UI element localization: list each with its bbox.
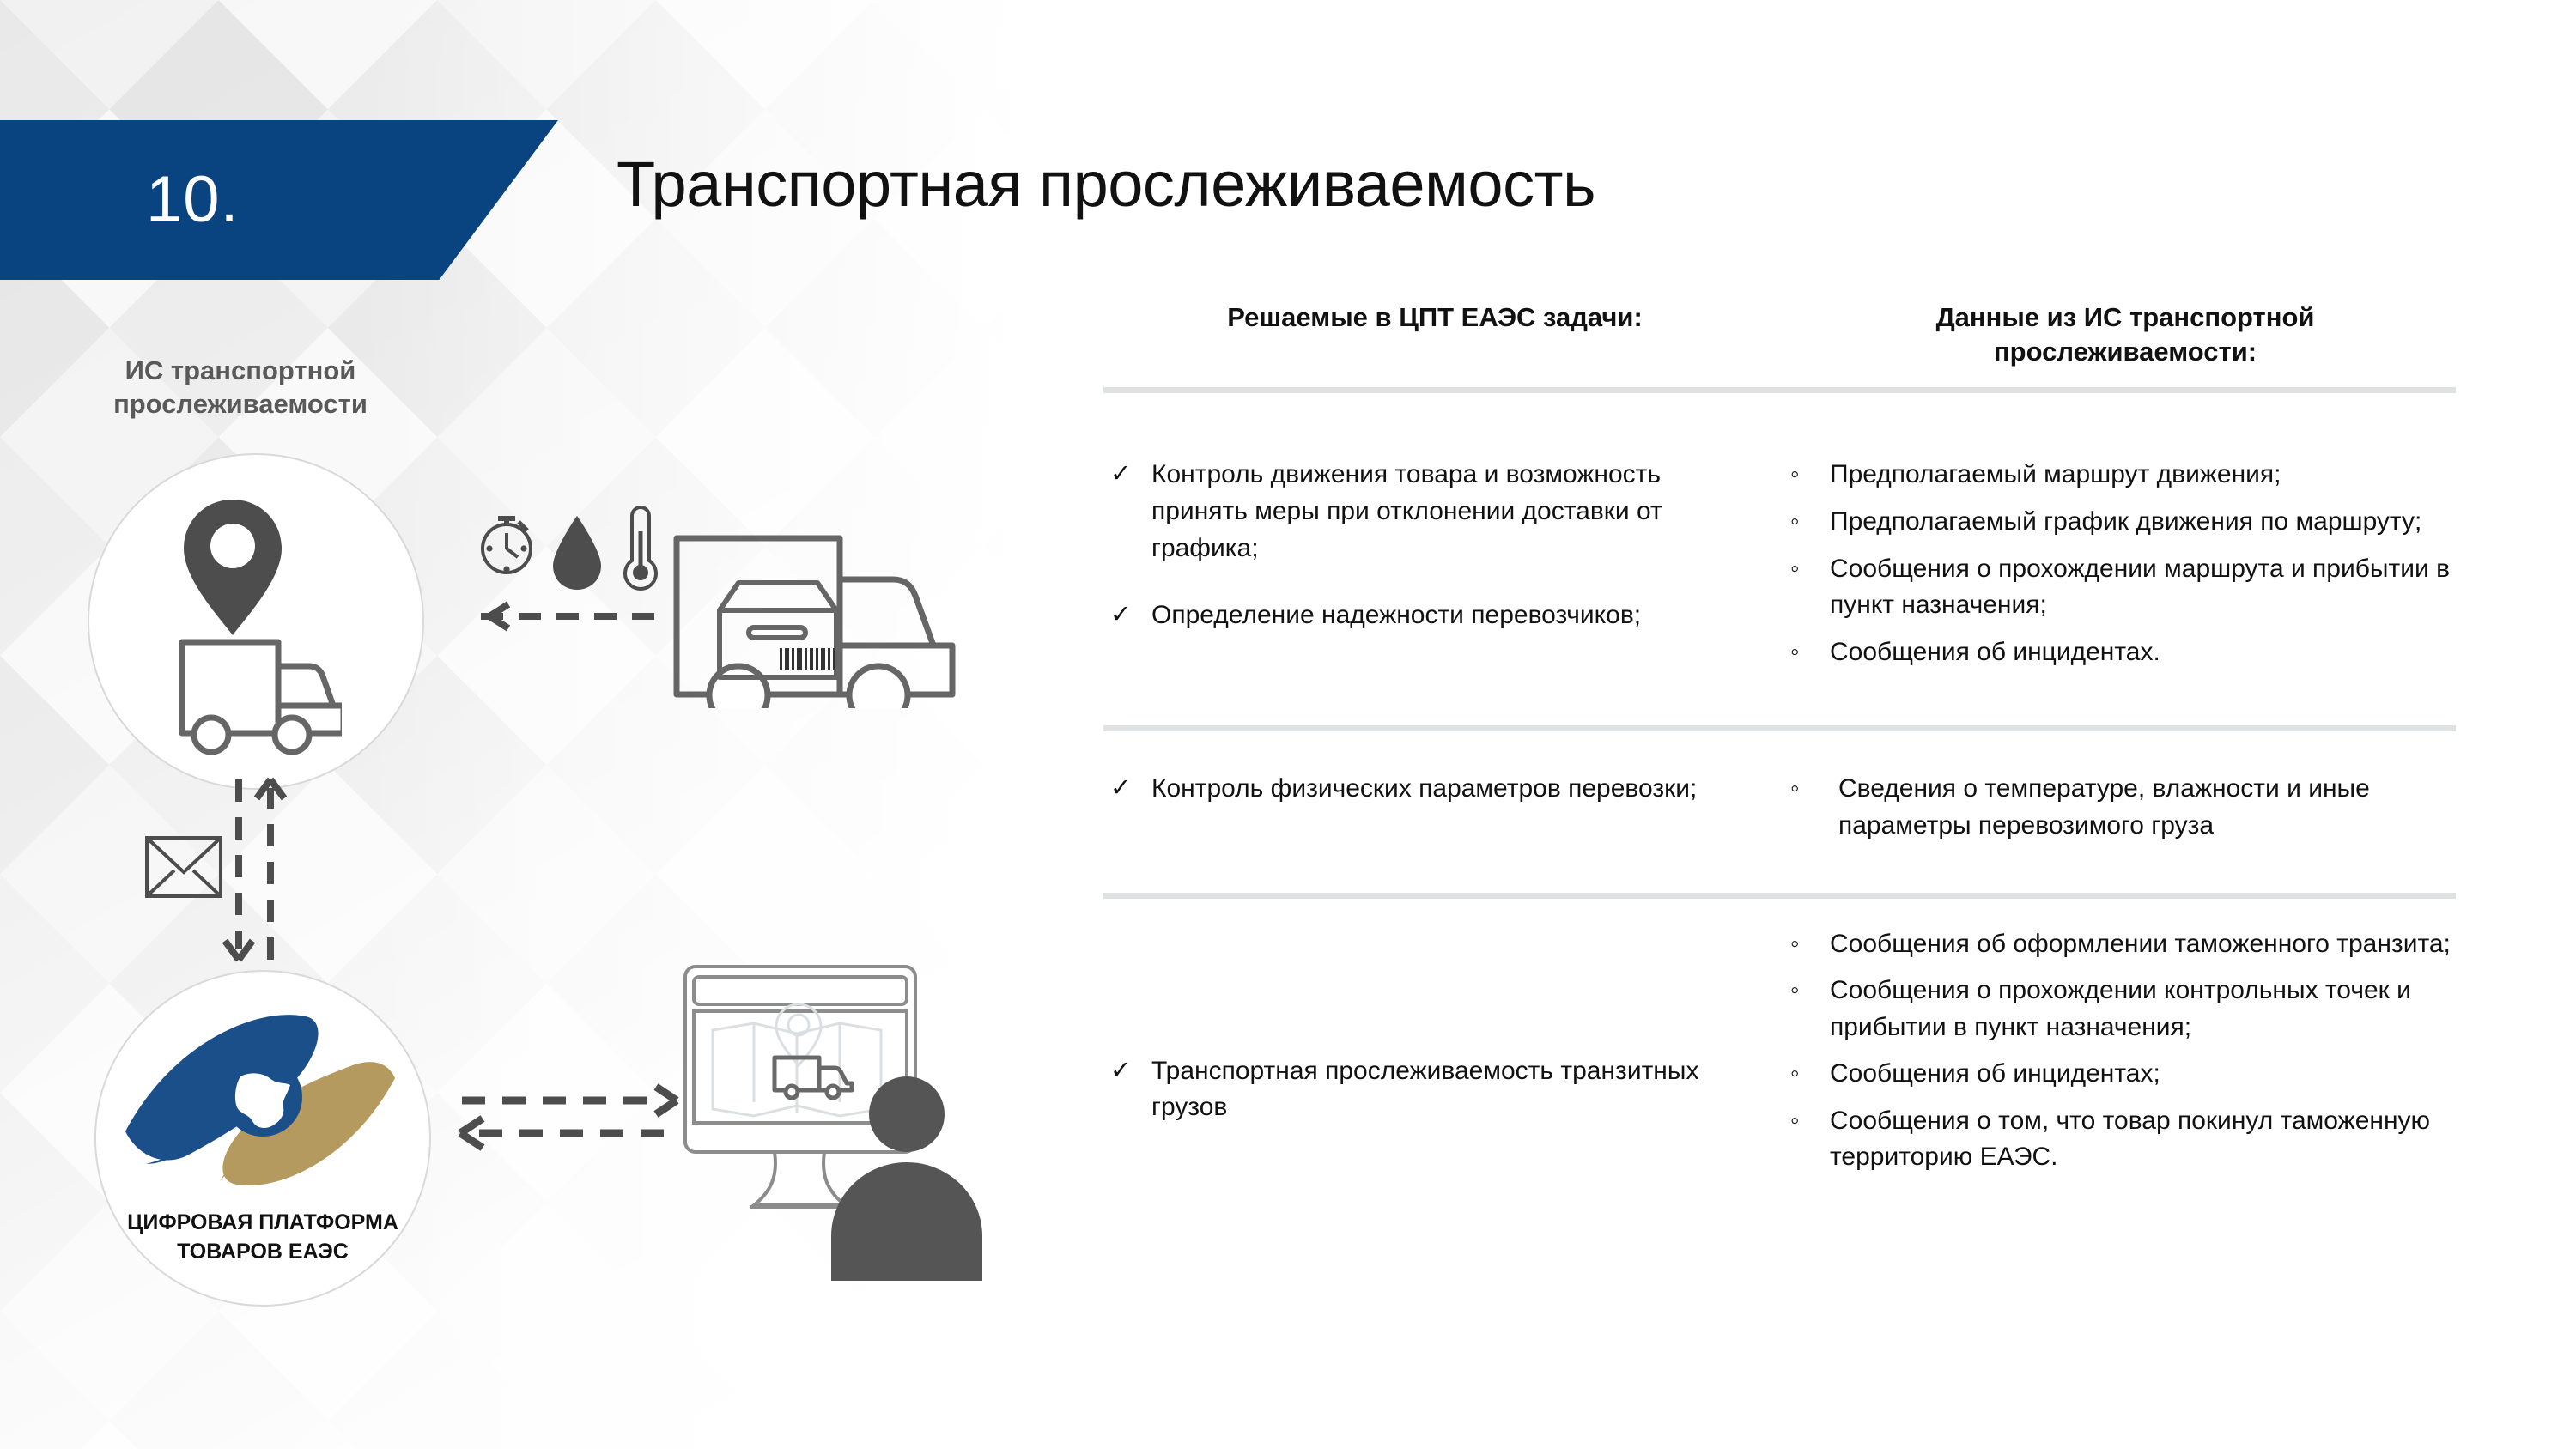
list-item: Транспортная прослеживаемость транзитных… <box>1103 1053 1758 1126</box>
list-item: Сведения о температуре, влажности и иные… <box>1782 771 2469 844</box>
list-item: Сообщения об инцидентах. <box>1782 634 2469 671</box>
pin-and-truck-group <box>179 498 342 755</box>
slide-number-banner: 10. <box>0 120 558 280</box>
list-item: Предполагаемый маршрут движения; <box>1782 457 2469 494</box>
list-item: Сообщения о прохождении маршрута и прибы… <box>1782 551 2469 624</box>
transport-traceability-diagram: ИС транспортной прослеживаемости <box>0 335 1022 1442</box>
list-item: Предполагаемый график движения по маршру… <box>1782 504 2469 541</box>
data-cell: Сообщения об оформлении таможенного тран… <box>1782 926 2469 1187</box>
data-cell: Сведения о температуре, влажности и иные… <box>1782 771 2469 854</box>
eaeu-emblem-icon <box>125 1015 395 1185</box>
water-droplet-icon <box>553 516 601 590</box>
eaeu-platform-logo-line1: ЦИФРОВАЯ ПЛАТФОРМА <box>127 1210 398 1234</box>
horizontal-connectors-group <box>429 1064 713 1185</box>
column-headers: Решаемые в ЦПТ ЕАЭС задачи: Данные из ИС… <box>1103 300 2469 368</box>
stopwatch-icon <box>483 518 531 573</box>
list-item: Сообщения об инцидентах; <box>1782 1056 2469 1093</box>
barcode-icon <box>780 648 835 670</box>
right-column-header-line2: прослеживаемости: <box>1782 335 2469 369</box>
cargo-box-icon <box>720 583 836 677</box>
dashed-arrow-down <box>225 779 252 960</box>
list-item: Контроль физических параметров перевозки… <box>1103 771 1758 808</box>
list-item: Сообщения о прохождении контрольных точе… <box>1782 973 2469 1046</box>
list-item: Сообщения о том, что товар покинул тамож… <box>1782 1103 2469 1176</box>
list-item: Сообщения об оформлении таможенного тран… <box>1782 926 2469 963</box>
dashed-arrow-left-from-monitor <box>460 1119 680 1148</box>
tasks-cell: Контроль движения товара и возможность п… <box>1103 457 1782 681</box>
dashed-arrow-right-to-monitor <box>462 1087 677 1114</box>
tasks-cell: Транспортная прослеживаемость транзитных… <box>1103 926 1782 1187</box>
content-row: Транспортная прослеживаемость транзитных… <box>1103 926 2469 1187</box>
is-transport-label: ИС транспортной прослеживаемости <box>34 354 447 421</box>
data-list: Сведения о температуре, влажности и иные… <box>1782 771 2469 844</box>
tasks-list: Транспортная прослеживаемость транзитных… <box>1103 1053 1758 1126</box>
page-title: Транспортная прослеживаемость <box>617 148 1595 221</box>
list-item: Контроль движения товара и возможность п… <box>1103 457 1758 567</box>
content-row: Контроль движения товара и возможность п… <box>1103 457 2469 681</box>
content-area: Решаемые в ЦПТ ЕАЭС задачи: Данные из ИС… <box>1103 300 2469 1186</box>
eaeu-platform-logo-line2: ТОВАРОВ ЕАЭС <box>177 1240 349 1264</box>
data-list: Сообщения об оформлении таможенного тран… <box>1782 926 2469 1177</box>
eaeu-platform-logo: ЦИФРОВАЯ ПЛАТФОРМА ТОВАРОВ ЕАЭС <box>112 987 414 1296</box>
tasks-list: Контроль физических параметров перевозки… <box>1103 771 1758 808</box>
monitor-and-person-group <box>678 961 1022 1322</box>
header-divider <box>1103 387 2456 393</box>
dashed-arrow-left <box>481 604 666 628</box>
sensors-and-cargo-truck-group <box>464 494 996 708</box>
is-transport-label-line2: прослеживаемости <box>34 387 447 421</box>
right-column-header-line1: Данные из ИС транспортной <box>1782 300 2469 335</box>
slide-number: 10. <box>146 167 240 233</box>
list-item: Определение надежности перевозчиков; <box>1103 597 1758 634</box>
dashed-arrow-up <box>257 779 284 960</box>
map-pin-icon <box>184 500 282 635</box>
tasks-cell: Контроль физических параметров перевозки… <box>1103 771 1782 854</box>
left-column-header: Решаемые в ЦПТ ЕАЭС задачи: <box>1103 300 1782 368</box>
row-divider <box>1103 893 2456 899</box>
tasks-list: Контроль движения товара и возможность п… <box>1103 457 1758 634</box>
envelope-icon <box>147 838 221 896</box>
data-cell: Предполагаемый маршрут движения; Предпол… <box>1782 457 2469 681</box>
content-row: Контроль физических параметров перевозки… <box>1103 771 2469 854</box>
row-divider <box>1103 725 2456 731</box>
data-list: Предполагаемый маршрут движения; Предпол… <box>1782 457 2469 670</box>
thermometer-icon <box>625 507 656 589</box>
right-column-header: Данные из ИС транспортной прослеживаемос… <box>1782 300 2469 368</box>
is-transport-label-line1: ИС транспортной <box>34 354 447 387</box>
delivery-truck-icon <box>182 642 342 752</box>
